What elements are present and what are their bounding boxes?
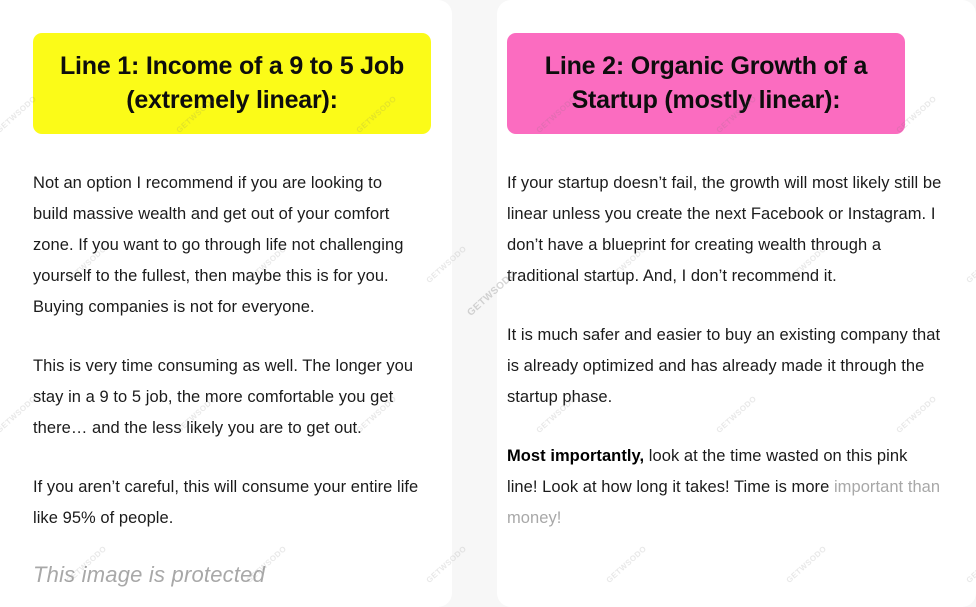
- column-content-line-1: Line 1: Income of a 9 to 5 Job (extremel…: [0, 0, 452, 607]
- column-gutter: [452, 0, 497, 607]
- paragraph-line-2-2: It is much safer and easier to buy an ex…: [507, 320, 942, 413]
- paragraph-line-1-1: Not an option I recommend if you are loo…: [33, 168, 419, 323]
- paragraph-line-2-3: Most importantly, look at the time waste…: [507, 441, 942, 534]
- heading-line-1: Line 1: Income of a 9 to 5 Job (extremel…: [33, 33, 431, 134]
- paragraph-line-1-2: This is very time consuming as well. The…: [33, 351, 419, 444]
- column-content-line-2: Line 2: Organic Growth of a Startup (mos…: [497, 0, 976, 607]
- paragraph-bold-lead: Most importantly,: [507, 447, 644, 465]
- card-line-1: Line 1: Income of a 9 to 5 Job (extremel…: [0, 0, 452, 607]
- paragraph-line-2-1: If your startup doesn’t fail, the growth…: [507, 168, 942, 292]
- two-column-layout: Line 1: Income of a 9 to 5 Job (extremel…: [0, 0, 976, 607]
- card-line-2: Line 2: Organic Growth of a Startup (mos…: [497, 0, 976, 607]
- heading-line-2: Line 2: Organic Growth of a Startup (mos…: [507, 33, 905, 134]
- image-protected-notice: This image is protected: [33, 562, 419, 588]
- paragraph-line-1-3: If you aren’t careful, this will consume…: [33, 472, 419, 534]
